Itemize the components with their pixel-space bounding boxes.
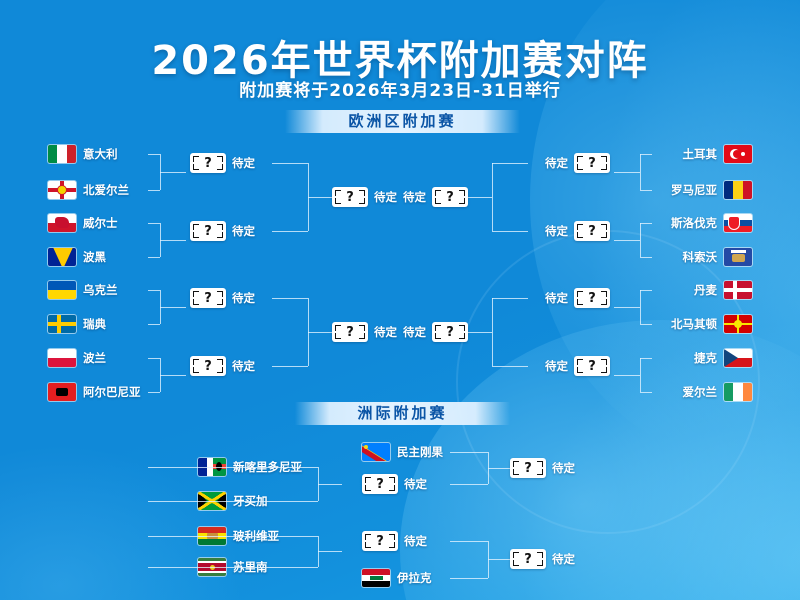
team-entry: 爱尔兰 [683, 383, 753, 401]
team-entry: 斯洛伐克 [671, 214, 752, 232]
flag-italy [48, 145, 76, 163]
bracket-connector [492, 231, 528, 232]
question-mark-icon: ? [332, 322, 368, 342]
flag-poland [48, 349, 76, 367]
bracket-connector [148, 190, 160, 191]
tbd-slot: ?待定 [545, 153, 610, 173]
team-name: 阿尔巴尼亚 [83, 384, 141, 400]
bracket-connector [148, 223, 160, 224]
tbd-slot: ?待定 [190, 153, 255, 173]
bracket-connector [640, 324, 652, 325]
team-name: 爱尔兰 [683, 384, 718, 400]
tbd-label: 待定 [232, 358, 255, 374]
team-entry: 伊拉克 [362, 569, 432, 587]
team-name: 意大利 [83, 146, 118, 162]
question-mark-icon: ? [574, 356, 610, 376]
tbd-label: 待定 [545, 155, 568, 171]
team-name: 乌克兰 [83, 282, 118, 298]
team-entry: 瑞典 [48, 315, 106, 333]
bracket-connector [614, 375, 640, 376]
bracket-connector [468, 197, 492, 198]
tbd-slot: ?待定 [362, 474, 427, 494]
bracket-connector [148, 324, 160, 325]
bracket-connector [492, 298, 528, 299]
question-mark-icon: ? [190, 221, 226, 241]
flag-albania [48, 383, 76, 401]
tbd-slot: ?待定 [545, 356, 610, 376]
bracket-connector [640, 358, 652, 359]
bracket-connector [160, 307, 186, 308]
bracket-connector [640, 190, 652, 191]
tbd-label: 待定 [232, 223, 255, 239]
question-mark-icon: ? [362, 474, 398, 494]
team-name: 土耳其 [683, 146, 718, 162]
bracket-poster: 2026年世界杯附加赛对阵 附加赛将于2026年3月23日-31日举行 欧洲区附… [0, 0, 800, 600]
team-entry: 威尔士 [48, 214, 118, 232]
team-name: 伊拉克 [397, 570, 432, 586]
team-entry: 阿尔巴尼亚 [48, 383, 141, 401]
tbd-slot: ?待定 [362, 531, 427, 551]
bracket-connector [640, 154, 641, 190]
bracket-connector [450, 484, 488, 485]
team-name: 罗马尼亚 [671, 182, 717, 198]
flag-wales [48, 214, 76, 232]
question-mark-icon: ? [510, 458, 546, 478]
bracket-connector [318, 484, 342, 485]
bracket-connector [640, 392, 652, 393]
bracket-connector [488, 559, 510, 560]
team-entry: 捷克 [694, 349, 752, 367]
team-entry: 丹麦 [694, 281, 752, 299]
team-name: 威尔士 [83, 215, 118, 231]
flag-bosnia [48, 248, 76, 266]
tbd-slot: ?待定 [190, 288, 255, 308]
tbd-slot: ?待定 [332, 322, 397, 342]
page-subtitle: 附加赛将于2026年3月23日-31日举行 [0, 76, 800, 101]
tbd-label: 待定 [403, 189, 426, 205]
tbd-slot: ?待定 [545, 288, 610, 308]
bracket-connector [614, 172, 640, 173]
tbd-label: 待定 [545, 290, 568, 306]
flag-sweden [48, 315, 76, 333]
team-name: 瑞典 [83, 316, 106, 332]
bracket-connector [272, 163, 308, 164]
bracket-connector [614, 307, 640, 308]
tbd-label: 待定 [232, 155, 255, 171]
bracket-connector [614, 240, 640, 241]
tbd-label: 待定 [232, 290, 255, 306]
bracket-connector [148, 567, 318, 568]
team-entry: 民主刚果 [362, 443, 443, 461]
bracket-connector [148, 358, 160, 359]
team-entry: 乌克兰 [48, 281, 118, 299]
flag-slovakia [724, 214, 752, 232]
tbd-slot: ?待定 [403, 187, 468, 207]
flag-northern-ireland [48, 181, 76, 199]
flag-dr-congo [362, 443, 390, 461]
tbd-label: 待定 [545, 223, 568, 239]
flag-north-macedonia [724, 315, 752, 333]
bracket-connector [492, 163, 528, 164]
bracket-connector [640, 223, 641, 257]
bracket-connector [272, 298, 308, 299]
question-mark-icon: ? [190, 153, 226, 173]
flag-turkey [724, 145, 752, 163]
question-mark-icon: ? [574, 288, 610, 308]
team-name: 波黑 [83, 249, 106, 265]
team-name: 民主刚果 [397, 444, 443, 460]
team-entry: 北爱尔兰 [48, 181, 129, 199]
bracket-connector [148, 467, 318, 468]
question-mark-icon: ? [190, 356, 226, 376]
tbd-label: 待定 [404, 533, 427, 549]
flag-denmark [724, 281, 752, 299]
team-name: 斯洛伐克 [671, 215, 717, 231]
tbd-slot: ?待定 [545, 221, 610, 241]
team-name: 科索沃 [683, 249, 718, 265]
team-entry: 罗马尼亚 [671, 181, 752, 199]
tbd-slot: ?待定 [403, 322, 468, 342]
bracket-connector [160, 375, 186, 376]
bracket-connector [148, 501, 318, 502]
tbd-label: 待定 [403, 324, 426, 340]
bracket-connector [640, 223, 652, 224]
team-entry: 波兰 [48, 349, 106, 367]
bracket-connector [160, 240, 186, 241]
question-mark-icon: ? [574, 153, 610, 173]
bracket-connector [640, 358, 641, 392]
tbd-label: 待定 [404, 476, 427, 492]
team-name: 波兰 [83, 350, 106, 366]
bracket-connector [640, 154, 652, 155]
team-name: 捷克 [694, 350, 717, 366]
bracket-connector [640, 257, 652, 258]
team-name: 北马其顿 [671, 316, 717, 332]
team-entry: 意大利 [48, 145, 118, 163]
tbd-label: 待定 [552, 551, 575, 567]
flag-iraq [362, 569, 390, 587]
bracket-connector [308, 197, 332, 198]
team-entry: 土耳其 [683, 145, 753, 163]
team-name: 丹麦 [694, 282, 717, 298]
question-mark-icon: ? [432, 187, 468, 207]
question-mark-icon: ? [510, 549, 546, 569]
tbd-slot: ?待定 [510, 458, 575, 478]
team-entry: 波黑 [48, 248, 106, 266]
tbd-label: 待定 [374, 324, 397, 340]
bracket-connector [488, 468, 510, 469]
bracket-connector [148, 257, 160, 258]
tbd-label: 待定 [545, 358, 568, 374]
question-mark-icon: ? [574, 221, 610, 241]
tbd-slot: ?待定 [332, 187, 397, 207]
tbd-label: 待定 [552, 460, 575, 476]
decorative-arc [456, 230, 760, 534]
question-mark-icon: ? [332, 187, 368, 207]
flag-kosovo [724, 248, 752, 266]
section-header-intercontinental: 洲际附加赛 [295, 402, 510, 425]
team-name: 北爱尔兰 [83, 182, 129, 198]
bracket-connector [308, 332, 332, 333]
bracket-connector [272, 366, 308, 367]
bracket-connector [640, 290, 641, 324]
question-mark-icon: ? [362, 531, 398, 551]
bracket-connector [148, 392, 160, 393]
team-entry: 北马其顿 [671, 315, 752, 333]
tbd-slot: ?待定 [190, 221, 255, 241]
flag-czechia [724, 349, 752, 367]
bracket-connector [450, 541, 488, 542]
section-header-europe: 欧洲区附加赛 [285, 110, 520, 133]
bracket-connector [318, 551, 342, 552]
bracket-connector [492, 366, 528, 367]
bracket-connector [492, 298, 493, 366]
bracket-connector [148, 290, 160, 291]
bracket-connector [450, 578, 488, 579]
bracket-connector [640, 290, 652, 291]
question-mark-icon: ? [190, 288, 226, 308]
bracket-connector [148, 154, 160, 155]
tbd-label: 待定 [374, 189, 397, 205]
bracket-connector [160, 172, 186, 173]
flag-ireland [724, 383, 752, 401]
tbd-slot: ?待定 [510, 549, 575, 569]
bracket-connector [450, 452, 488, 453]
bracket-connector [468, 332, 492, 333]
flag-ukraine [48, 281, 76, 299]
flag-romania [724, 181, 752, 199]
bracket-connector [148, 536, 318, 537]
question-mark-icon: ? [432, 322, 468, 342]
bracket-connector [492, 163, 493, 231]
team-entry: 科索沃 [683, 248, 753, 266]
tbd-slot: ?待定 [190, 356, 255, 376]
bracket-connector [272, 231, 308, 232]
